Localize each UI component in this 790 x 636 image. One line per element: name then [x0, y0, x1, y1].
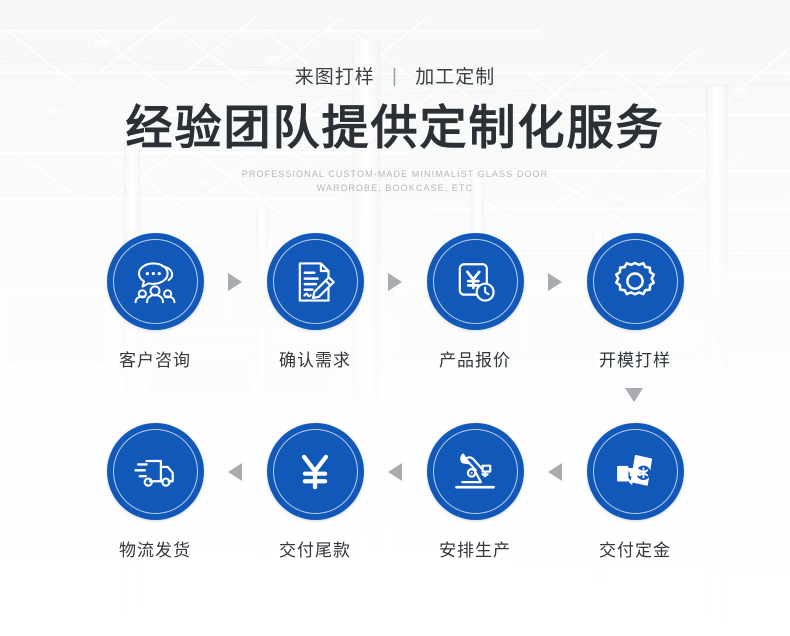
step-icon-circle — [107, 233, 204, 330]
arrow-step1-to-step2-icon — [228, 273, 242, 291]
step-label: 确认需求 — [279, 346, 351, 371]
arrow-step2-to-step3-icon — [388, 273, 402, 291]
process-step-deposit-payment[interactable]: 交付定金 — [555, 423, 715, 561]
step-label: 物流发货 — [119, 536, 191, 561]
banner-header: 来图打样 | 加工定制 经验团队提供定制化服务 PROFESSIONAL CUS… — [0, 0, 790, 196]
process-row-top: 客户咨询 确认需求 — [0, 233, 790, 383]
step-label: 产品报价 — [439, 346, 511, 371]
deposit-payment-icon — [608, 445, 662, 499]
english-subtitle-line2: WARDROBE, BOOKCASE, ETC — [0, 182, 790, 196]
process-step-mold-sampling[interactable]: 开模打样 — [555, 233, 715, 371]
step-icon-circle — [427, 233, 524, 330]
step-icon-circle — [107, 423, 204, 520]
process-step-final-payment[interactable]: 交付尾款 — [235, 423, 395, 561]
step-icon-circle — [267, 423, 364, 520]
step-icon-circle — [587, 423, 684, 520]
step-label: 交付定金 — [599, 536, 671, 561]
confirm-requirements-icon — [288, 255, 342, 309]
step-icon-circle — [427, 423, 524, 520]
arrow-step3-to-step4-icon — [548, 273, 562, 291]
promo-banner-page: 来图打样 | 加工定制 经验团队提供定制化服务 PROFESSIONAL CUS… — [0, 0, 790, 636]
process-step-customer-consultation[interactable]: 客户咨询 — [75, 233, 235, 371]
process-step-arrange-production[interactable]: 安排生产 — [395, 423, 555, 561]
logistics-delivery-icon — [128, 445, 182, 499]
process-step-confirm-requirements[interactable]: 确认需求 — [235, 233, 395, 371]
tagline-left-text: 来图打样 — [295, 67, 375, 88]
arrow-step8-to-step7-icon — [548, 463, 562, 481]
tagline-right-text: 加工定制 — [415, 67, 495, 88]
arrow-step7-to-step6-icon — [388, 463, 402, 481]
final-payment-icon — [288, 445, 342, 499]
page-title: 经验团队提供定制化服务 — [0, 103, 790, 152]
step-label: 开模打样 — [599, 346, 671, 371]
arrow-step4-to-step5-icon — [625, 388, 643, 402]
header-tagline: 来图打样 | 加工定制 — [0, 68, 790, 87]
step-icon-circle — [587, 233, 684, 330]
customer-consultation-icon — [128, 255, 182, 309]
arrange-production-icon — [448, 445, 502, 499]
mold-sampling-icon — [608, 255, 662, 309]
process-step-product-quotation[interactable]: 产品报价 — [395, 233, 555, 371]
english-subtitle-line1: PROFESSIONAL CUSTOM-MADE MINIMALIST GLAS… — [0, 168, 790, 182]
arrow-step6-to-step5-icon — [228, 463, 242, 481]
step-icon-circle — [267, 233, 364, 330]
step-label: 安排生产 — [439, 536, 511, 561]
step-label: 客户咨询 — [119, 346, 191, 371]
tagline-divider: | — [392, 67, 398, 86]
product-quotation-icon — [448, 255, 502, 309]
process-row-bottom: 物流发货 交付尾款 — [0, 423, 790, 573]
process-step-logistics-delivery[interactable]: 物流发货 — [75, 423, 235, 561]
step-label: 交付尾款 — [279, 536, 351, 561]
